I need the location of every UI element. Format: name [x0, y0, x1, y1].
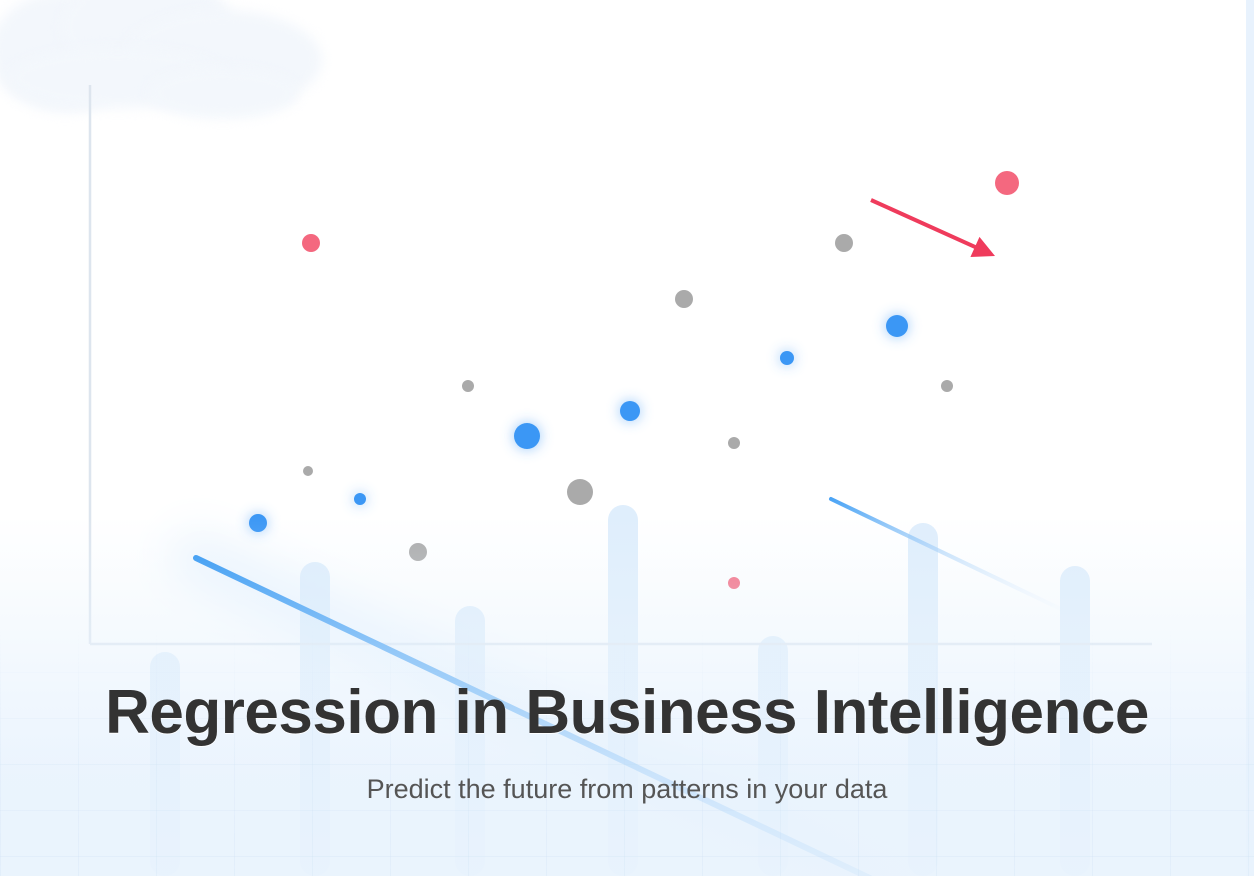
hero-caption: Regression in Business Intelligence Pred…: [0, 680, 1254, 805]
scatter-point: [728, 577, 740, 589]
scatter-point: [995, 171, 1019, 195]
scatter-point: [835, 234, 853, 252]
scatter-point: [620, 401, 640, 421]
scatter-point: [567, 479, 593, 505]
scatter-point: [249, 514, 267, 532]
scatter-point: [302, 234, 320, 252]
scatter-point: [728, 437, 740, 449]
scatter-point: [409, 543, 427, 561]
secondary-regression-line: [831, 499, 1065, 611]
scatter-point: [941, 380, 953, 392]
scatter-point: [675, 290, 693, 308]
hero-banner: Regression in Business Intelligence Pred…: [0, 0, 1254, 876]
page-subtitle: Predict the future from patterns in your…: [0, 773, 1254, 805]
scatter-point: [354, 493, 366, 505]
scatter-point: [514, 423, 540, 449]
downward-trend-arrow: [871, 200, 979, 249]
page-title: Regression in Business Intelligence: [0, 680, 1254, 747]
scatter-point: [886, 315, 908, 337]
scatter-point: [780, 351, 794, 365]
scatter-point: [303, 466, 313, 476]
scatter-point: [462, 380, 474, 392]
annotations-group: [871, 200, 995, 257]
